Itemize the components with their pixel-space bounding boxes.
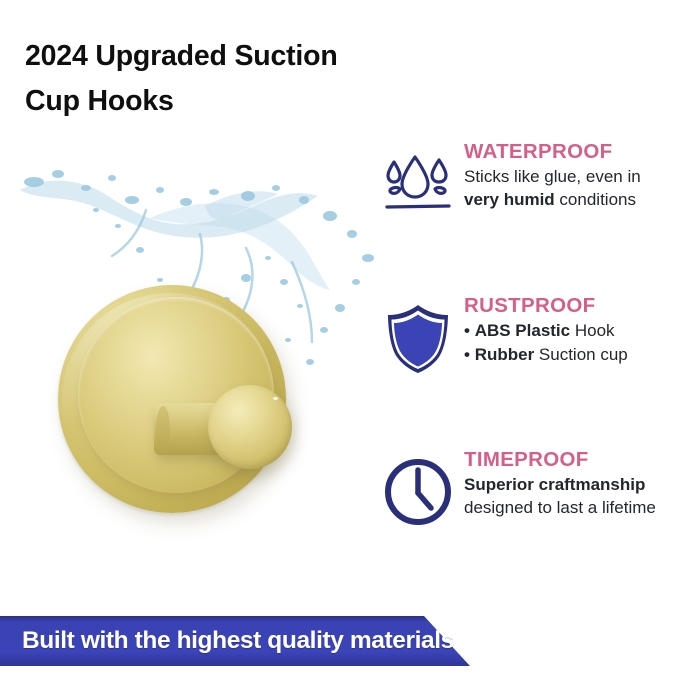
- product-image: [0, 130, 390, 570]
- suction-cup-hook: [58, 285, 308, 535]
- feature-text-regular: conditions: [555, 190, 636, 209]
- bullet-bold: Rubber: [475, 345, 535, 364]
- bullet-marker: •: [464, 321, 470, 340]
- infographic-page: 2024 Upgraded Suction Cup Hooks: [0, 0, 684, 684]
- page-title-line1: 2024 Upgraded Suction: [25, 40, 338, 72]
- feature-bullet: • Rubber Suction cup: [464, 343, 684, 367]
- bullet-marker: •: [464, 345, 470, 364]
- feature-waterproof: WATERPROOF Sticks like glue, even in ver…: [382, 140, 684, 236]
- page-title: 2024 Upgraded Suction Cup Hooks: [25, 34, 385, 124]
- feature-text-regular: Sticks like glue, even in: [464, 167, 641, 186]
- hook-knob-cap: [208, 385, 292, 469]
- feature-waterproof-body: WATERPROOF Sticks like glue, even in ver…: [464, 140, 684, 211]
- bullet-regular: Suction cup: [534, 345, 628, 364]
- feature-timeproof: TIMEPROOF Superior craftmanship designed…: [382, 448, 684, 544]
- feature-text-line: designed to last a lifetime: [464, 496, 684, 519]
- feature-text-line: very humid conditions: [464, 188, 684, 211]
- feature-rustproof-body: RUSTPROOF • ABS Plastic Hook • Rubber Su…: [464, 294, 684, 367]
- feature-title: RUSTPROOF: [464, 294, 684, 318]
- feature-text-bold: very humid: [464, 190, 555, 209]
- page-title-line2: Cup Hooks: [25, 79, 385, 124]
- water-droplets-icon: [382, 148, 454, 220]
- feature-text-line: Sticks like glue, even in: [464, 165, 684, 188]
- clock-icon: [382, 456, 454, 528]
- feature-rustproof: RUSTPROOF • ABS Plastic Hook • Rubber Su…: [382, 294, 684, 390]
- banner-text: Built with the highest quality materials: [22, 616, 454, 666]
- feature-text-line: Superior craftmanship: [464, 473, 684, 496]
- feature-timeproof-body: TIMEPROOF Superior craftmanship designed…: [464, 448, 684, 519]
- feature-bullet: • ABS Plastic Hook: [464, 319, 684, 343]
- feature-title: WATERPROOF: [464, 140, 684, 164]
- bullet-regular: Hook: [570, 321, 614, 340]
- feature-text-regular: designed to last a lifetime: [464, 498, 656, 517]
- feature-title: TIMEPROOF: [464, 448, 684, 472]
- shield-icon: [382, 302, 454, 374]
- feature-text-bold: Superior craftmanship: [464, 475, 645, 494]
- bottom-banner: Built with the highest quality materials: [0, 616, 470, 666]
- bullet-bold: ABS Plastic: [475, 321, 570, 340]
- feature-list: WATERPROOF Sticks like glue, even in ver…: [382, 140, 684, 544]
